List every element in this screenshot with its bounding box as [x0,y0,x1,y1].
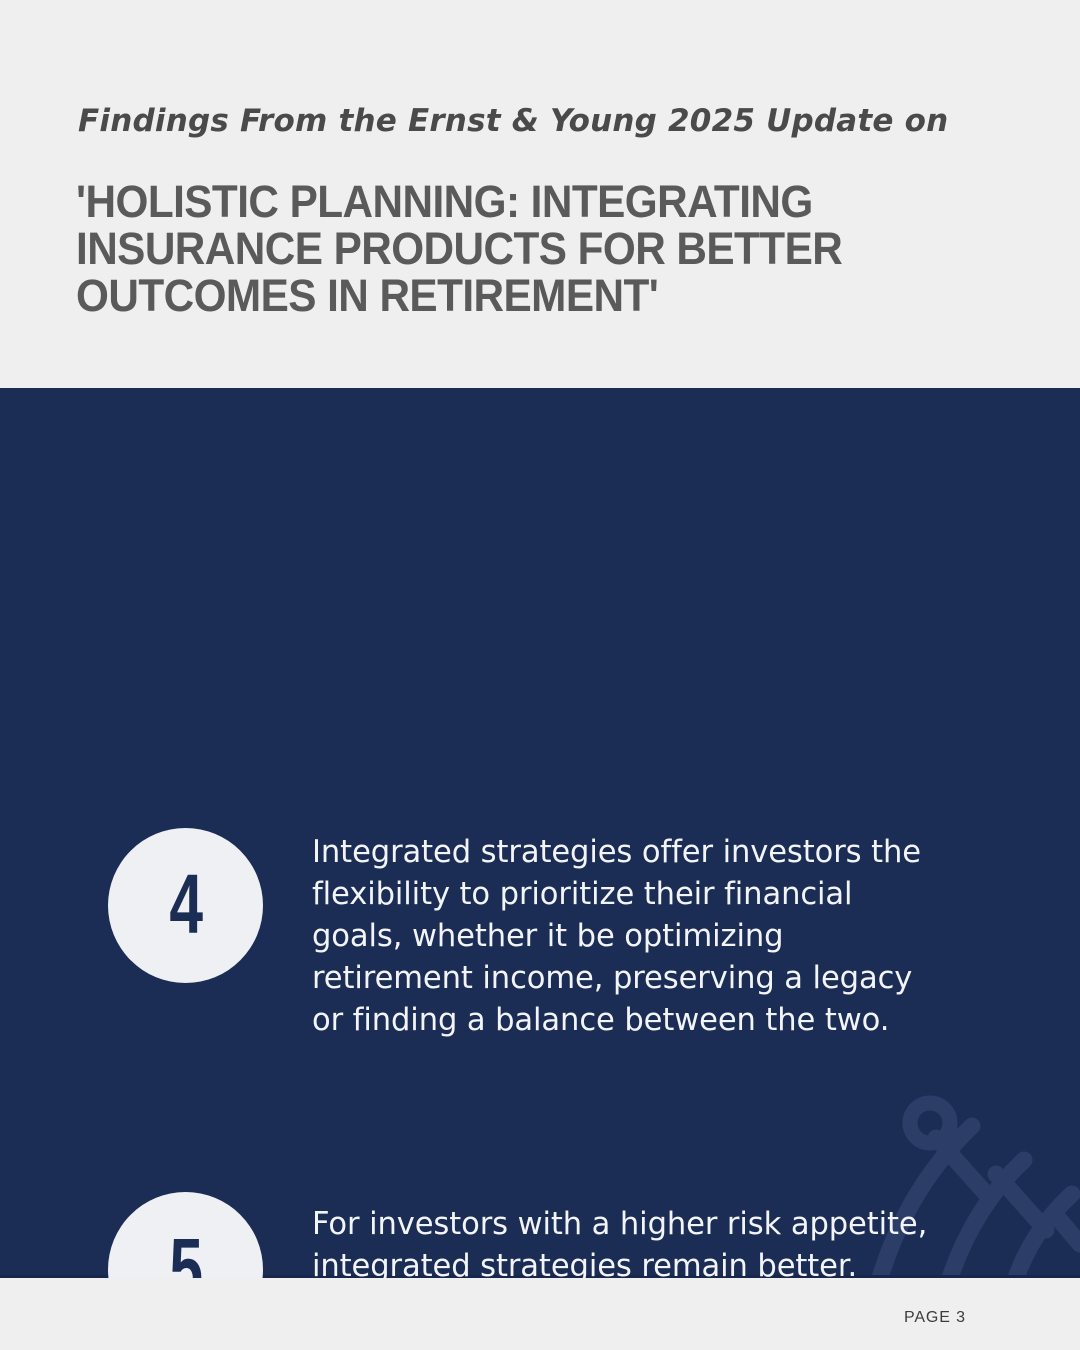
badge-number: 4 [169,862,202,946]
number-badge: 4 [108,828,263,983]
eyebrow-text: Findings From the Ernst & Young 2025 Upd… [78,103,998,139]
header-section: Findings From the Ernst & Young 2025 Upd… [0,0,1080,388]
footer-section: PAGE 3 [0,1281,1080,1350]
content-panel: 4 Integrated strategies offer investors … [0,388,1080,1278]
badge-number: 5 [169,1226,202,1279]
page-title: 'Holistic Planning: Integrating Insuranc… [76,178,903,319]
list-item-text: Integrated strategies offer investors th… [312,831,933,1041]
number-badge: 5 [108,1192,263,1278]
page-number-label: PAGE 3 [904,1309,966,1327]
infographic-page: Findings From the Ernst & Young 2025 Upd… [0,0,1080,1350]
list-item-text: For investors with a higher risk appetit… [312,1203,933,1278]
